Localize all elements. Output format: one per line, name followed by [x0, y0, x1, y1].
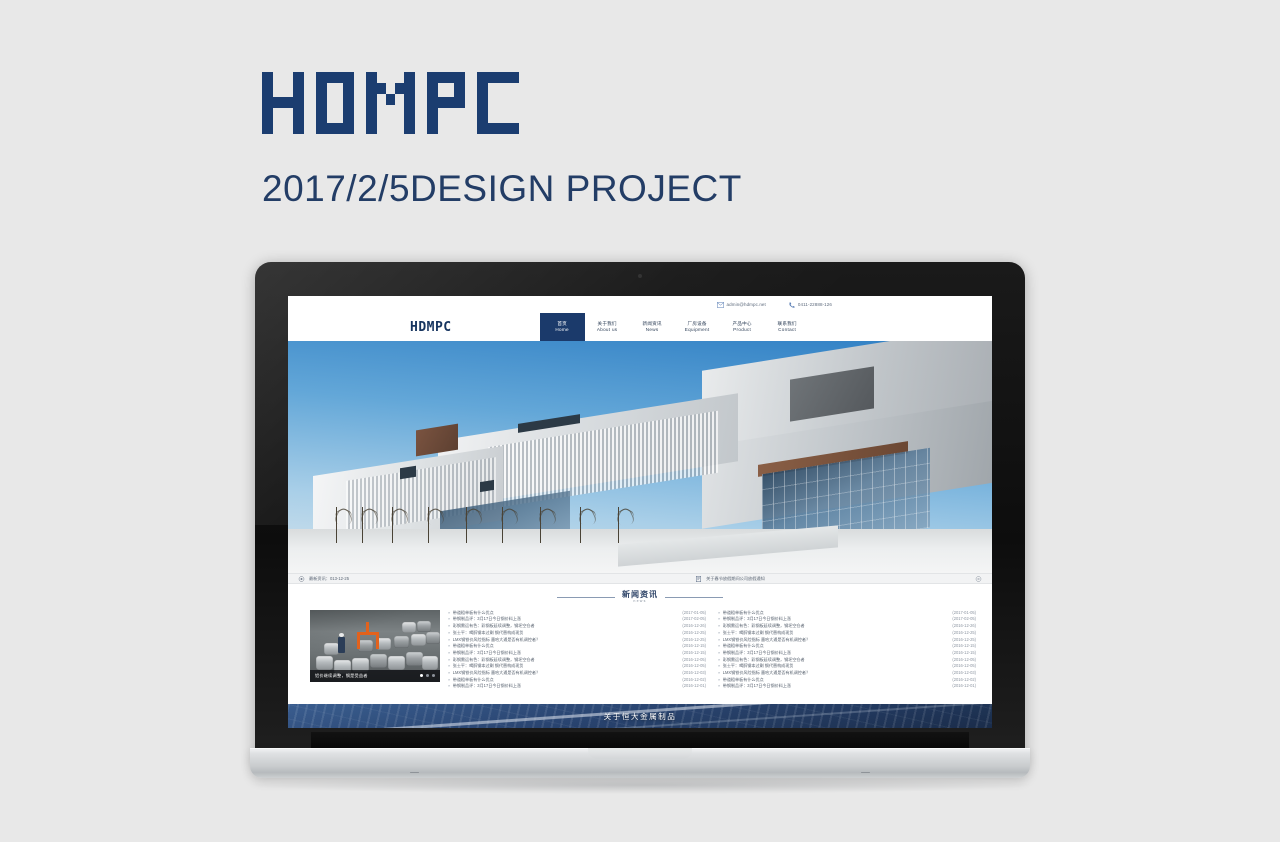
branding-block: 2017/2/5DESIGN PROJECT [262, 72, 962, 210]
news-row-date: (2016-12-15) [948, 643, 976, 650]
news-row-title: LMX钢铁价风险指标 墨哈大通是否有机调控者？ [453, 637, 540, 644]
news-row[interactable]: »彩钢需运有色：彩钢板延续调整，钢坯空仓者(2016-12-26) [448, 623, 706, 630]
news-row[interactable]: »带钢制品评：3月17日今日钢价料上涨(2016-12-01) [718, 683, 976, 690]
news-row-date: (2016-12-05) [678, 663, 706, 670]
nav-item-product[interactable]: 产品中心 Product [720, 313, 765, 341]
brand-logo [262, 72, 962, 138]
nav-item-contact[interactable]: 联系我们 Contact [765, 313, 810, 341]
hero-plaza-steps [618, 525, 838, 566]
news-row-title: 带钢制品评：3月17日今日钢价料上涨 [723, 683, 791, 690]
news-bullet-icon: » [448, 677, 450, 684]
news-row[interactable]: »LMX钢铁价风险指标 墨哈大通是否有机调控者？(2016-12-03) [718, 670, 976, 677]
laptop-foot [861, 772, 870, 774]
news-image-slider[interactable]: 铝价继续调整，钢是受益者 [310, 610, 440, 682]
nav-item-contact-cn: 联系我们 [778, 322, 797, 327]
topbar-email-text: admin@hdmpc.net [727, 302, 766, 307]
news-row-title: 带道粗单板有什么优点 [723, 643, 764, 650]
news-row-date: (2016-12-01) [678, 683, 706, 690]
hero-tree [580, 507, 581, 543]
news-bullet-icon: » [448, 657, 450, 664]
nav-item-news-en: News [646, 328, 659, 333]
news-bullet-icon: » [718, 657, 720, 664]
news-row-title: 带钢制品评：3月17日今日钢价料上涨 [453, 650, 521, 657]
hero-tree [362, 507, 363, 543]
speaker-icon [298, 576, 305, 582]
ticker-label: 最新资讯：013-12-25 [309, 576, 349, 582]
nav-item-equipment-cn: 厂房设备 [688, 322, 707, 327]
news-bullet-icon: » [448, 650, 450, 657]
ticker-close[interactable] [952, 576, 982, 582]
laptop-mockup: admin@hdmpc.net 0411-22888-126 HDMPC 首页 … [255, 262, 1025, 772]
hero-plaza [288, 529, 992, 573]
news-row[interactable]: »带钢制品评：3月17日今日钢价料上涨(2016-12-15) [448, 650, 706, 657]
website-preview: admin@hdmpc.net 0411-22888-126 HDMPC 首页 … [288, 296, 992, 728]
site-header: HDMPC 首页 Home 关于我们 About us 新闻资讯 News [288, 313, 992, 341]
news-row-date: (2017-01-05) [948, 610, 976, 617]
footer-title: 关于恒大金属制品 [288, 711, 992, 722]
news-row-date: (2016-12-05) [948, 657, 976, 664]
hero-tree [540, 507, 541, 543]
phone-icon [788, 302, 795, 308]
news-row-title: 带钢制品评：3月17日今日钢价料上涨 [723, 650, 791, 657]
hero-tree [502, 507, 503, 543]
header-rule-left [557, 597, 615, 598]
news-row[interactable]: »带钢制品评：3月17日今日钢价料上涨(2017-02-05) [718, 616, 976, 623]
hero-tree [428, 507, 429, 543]
laptop-base-notch [588, 748, 692, 759]
news-row-title: 张士平：喝醉钢本过剩 钢代替构成现货 [453, 663, 524, 670]
news-row[interactable]: »带道粗单板有什么优点(2016-12-02) [718, 677, 976, 684]
news-section: 新闻资讯 news [288, 584, 992, 704]
slider-dot-2[interactable] [426, 674, 429, 677]
laptop-screen: admin@hdmpc.net 0411-22888-126 HDMPC 首页 … [288, 296, 992, 728]
slider-caption-bar: 铝价继续调整，钢是受益者 [310, 670, 440, 682]
nav-item-home-cn: 首页 [557, 322, 567, 327]
news-row[interactable]: »张士平：喝醉钢本过剩 钢代替构成现货(2016-12-05) [718, 663, 976, 670]
brand-subtitle: 2017/2/5DESIGN PROJECT [262, 168, 962, 210]
site-logo[interactable]: HDMPC [410, 320, 452, 335]
news-column-left: »带道粗单板有什么优点(2017-01-05)»带钢制品评：3月17日今日钢价料… [448, 610, 706, 690]
news-row-date: (2016-12-25) [678, 630, 706, 637]
news-row[interactable]: »LMX钢铁价风险指标 墨哈大通是否有机调控者？(2016-12-25) [448, 637, 706, 644]
news-bullet-icon: » [448, 683, 450, 690]
nav-item-about[interactable]: 关于我们 About us [585, 313, 630, 341]
news-row-date: (2016-12-26) [678, 623, 706, 630]
news-row-title: 张士平：喝醉钢本过剩 钢代替构成现货 [723, 663, 794, 670]
news-bullet-icon: » [718, 623, 720, 630]
news-row-title: 带道粗单板有什么优点 [453, 677, 494, 684]
news-row-title: 彩钢需运有色：彩钢板延续调整，钢坯空仓者 [723, 657, 805, 664]
news-row-title: 张士平：喝醉钢本过剩 钢代替构成现货 [453, 630, 524, 637]
ticker-headline: 关于春节放假期间公司放假通知 [706, 576, 765, 582]
document-icon [695, 576, 702, 582]
news-bullet-icon: » [718, 637, 720, 644]
news-bullet-icon: » [718, 663, 720, 670]
news-row[interactable]: »LMX钢铁价风险指标 墨哈大通是否有机调控者？(2016-12-03) [448, 670, 706, 677]
news-bullet-icon: » [718, 683, 720, 690]
topbar-phone-text: 0411-22888-126 [798, 302, 832, 307]
news-row-title: 带道粗单板有什么优点 [453, 610, 494, 617]
ticker-headline-wrap[interactable]: 关于春节放假期间公司放假通知 [508, 576, 952, 582]
news-section-header: 新闻资讯 news [288, 591, 992, 604]
topbar-phone[interactable]: 0411-22888-126 [788, 302, 832, 308]
news-bullet-icon: » [448, 630, 450, 637]
hero-tree [392, 507, 393, 543]
news-bullet-icon: » [718, 677, 720, 684]
news-row-date: (2017-02-05) [678, 616, 706, 623]
news-column-right: »带道粗单板有什么优点(2017-01-05)»带钢制品评：3月17日今日钢价料… [718, 610, 976, 690]
nav-item-equipment[interactable]: 厂房设备 Equipment [675, 313, 720, 341]
news-row[interactable]: »带钢制品评：3月17日今日钢价料上涨(2016-12-01) [448, 683, 706, 690]
news-row-title: 带钢制品评：3月17日今日钢价料上涨 [723, 616, 791, 623]
news-bullet-icon: » [718, 610, 720, 617]
news-title-en: news [622, 600, 658, 604]
laptop-base [250, 748, 1030, 778]
news-row-date: (2016-12-25) [678, 637, 706, 644]
news-row-date: (2016-12-05) [678, 657, 706, 664]
envelope-icon [717, 302, 724, 308]
nav-item-product-cn: 产品中心 [733, 322, 752, 327]
nav-item-equipment-en: Equipment [685, 328, 710, 333]
news-row-date: (2016-12-15) [948, 650, 976, 657]
news-ticker: 最新资讯：013-12-25 关于春节放假期间公司放假通知 [288, 573, 992, 584]
nav-item-home-en: Home [555, 328, 568, 333]
news-row-date: (2016-12-03) [678, 670, 706, 677]
slider-dot-3[interactable] [432, 674, 435, 677]
header-rule-right [665, 597, 723, 598]
main-nav: 首页 Home 关于我们 About us 新闻资讯 News 厂房设备 Equ… [540, 313, 810, 341]
hero-tree [618, 507, 619, 543]
news-row-title: 彩钢需运有色：彩钢板延续调整，钢坯空仓者 [453, 623, 535, 630]
webcam-icon [638, 274, 642, 278]
news-row[interactable]: »带道粗单板有什么优点(2016-12-15) [448, 643, 706, 650]
ticker-latest: 最新资讯：013-12-25 [298, 576, 508, 582]
news-row[interactable]: »带钢制品评：3月17日今日钢价料上涨(2016-12-15) [718, 650, 976, 657]
news-row-date: (2016-12-05) [948, 663, 976, 670]
news-bullet-icon: » [718, 630, 720, 637]
news-row-title: 带道粗单板有什么优点 [453, 643, 494, 650]
news-row-date: (2016-12-01) [948, 683, 976, 690]
site-topbar: admin@hdmpc.net 0411-22888-126 [288, 296, 992, 313]
news-bullet-icon: » [718, 650, 720, 657]
news-row[interactable]: »彩钢需运有色：彩钢板延续调整，钢坯空仓者(2016-12-05) [718, 657, 976, 664]
news-bullet-icon: » [448, 670, 450, 677]
news-row[interactable]: »张士平：喝醉钢本过剩 钢代替构成现货(2016-12-25) [448, 630, 706, 637]
slider-dots [420, 674, 435, 677]
news-row[interactable]: »LMX钢铁价风险指标 墨哈大通是否有机调控者？(2016-12-25) [718, 637, 976, 644]
topbar-email[interactable]: admin@hdmpc.net [717, 302, 766, 308]
news-row-date: (2016-12-15) [678, 643, 706, 650]
news-bullet-icon: » [448, 637, 450, 644]
news-row-date: (2016-12-03) [948, 670, 976, 677]
news-row-title: 彩钢需运有色：彩钢板延续调整，钢坯空仓者 [723, 623, 805, 630]
nav-item-product-en: Product [733, 328, 751, 333]
news-bullet-icon: » [718, 670, 720, 677]
slider-dot-1[interactable] [420, 674, 423, 677]
nav-item-news[interactable]: 新闻资讯 News [630, 313, 675, 341]
news-row-title: 带钢制品评：3月17日今日钢价料上涨 [453, 683, 521, 690]
news-row-title: 带道粗单板有什么优点 [723, 610, 764, 617]
news-row-date: (2017-01-05) [678, 610, 706, 617]
news-row[interactable]: »带道粗单板有什么优点(2017-01-05) [448, 610, 706, 617]
news-bullet-icon: » [718, 616, 720, 623]
news-row-date: (2017-02-05) [948, 616, 976, 623]
news-row-date: (2016-12-02) [948, 677, 976, 684]
news-row[interactable]: »张士平：喝醉钢本过剩 钢代替构成现货(2016-12-05) [448, 663, 706, 670]
laptop-shadow [252, 776, 1030, 794]
news-row-date: (2016-12-25) [948, 637, 976, 644]
news-row-title: 彩钢需运有色：彩钢板延续调整，钢坯空仓者 [453, 657, 535, 664]
nav-item-home[interactable]: 首页 Home [540, 313, 585, 341]
news-bullet-icon: » [448, 643, 450, 650]
news-bullet-icon: » [448, 663, 450, 670]
news-row[interactable]: »带道粗单板有什么优点(2016-12-15) [718, 643, 976, 650]
hero-tree [466, 507, 467, 543]
news-row-date: (2016-12-25) [948, 630, 976, 637]
laptop-foot [410, 772, 419, 774]
news-body: 铝价继续调整，钢是受益者 »带道粗单板有什么优点(2017-01-05)»带钢制… [288, 604, 992, 690]
news-row-date: (2016-12-15) [678, 650, 706, 657]
hdmpc-logo-icon [262, 72, 542, 134]
news-row[interactable]: »彩钢需运有色：彩钢板延续调整，钢坯空仓者(2016-12-26) [718, 623, 976, 630]
hero-banner[interactable] [288, 341, 992, 573]
nav-item-news-cn: 新闻资讯 [643, 322, 662, 327]
hero-tree [336, 507, 337, 543]
nav-item-contact-en: Contact [778, 328, 796, 333]
news-row-title: LMX钢铁价风险指标 墨哈大通是否有机调控者？ [453, 670, 540, 677]
news-bullet-icon: » [448, 610, 450, 617]
slider-caption: 铝价继续调整，钢是受益者 [315, 673, 368, 679]
nav-item-about-cn: 关于我们 [598, 322, 617, 327]
news-row-date: (2016-12-02) [678, 677, 706, 684]
news-bullet-icon: » [448, 616, 450, 623]
news-bullet-icon: » [718, 643, 720, 650]
nav-item-about-en: About us [597, 328, 618, 333]
news-row[interactable]: »带道粗单板有什么优点(2017-01-05) [718, 610, 976, 617]
news-row-date: (2016-12-26) [948, 623, 976, 630]
news-row-title: LMX钢铁价风险指标 墨哈大通是否有机调控者？ [723, 670, 810, 677]
site-footer: 关于恒大金属制品 恒大金属制品有限公司成立 立从事机械零部件 铸造及加工，深冷板… [288, 704, 992, 728]
news-row-title: 张士平：喝醉钢本过剩 钢代替构成现货 [723, 630, 794, 637]
news-row[interactable]: »带钢制品评：3月17日今日钢价料上涨(2017-02-05) [448, 616, 706, 623]
news-bullet-icon: » [448, 623, 450, 630]
news-columns: »带道粗单板有什么优点(2017-01-05)»带钢制品评：3月17日今日钢价料… [448, 610, 976, 690]
news-row[interactable]: »彩钢需运有色：彩钢板延续调整，钢坯空仓者(2016-12-05) [448, 657, 706, 664]
news-row[interactable]: »张士平：喝醉钢本过剩 钢代替构成现货(2016-12-25) [718, 630, 976, 637]
news-row[interactable]: »带道粗单板有什么优点(2016-12-02) [448, 677, 706, 684]
news-row-title: 带钢制品评：3月17日今日钢价料上涨 [453, 616, 521, 623]
close-icon [975, 576, 982, 582]
news-row-title: 带道粗单板有什么优点 [723, 677, 764, 684]
news-row-title: LMX钢铁价风险指标 墨哈大通是否有机调控者？ [723, 637, 810, 644]
